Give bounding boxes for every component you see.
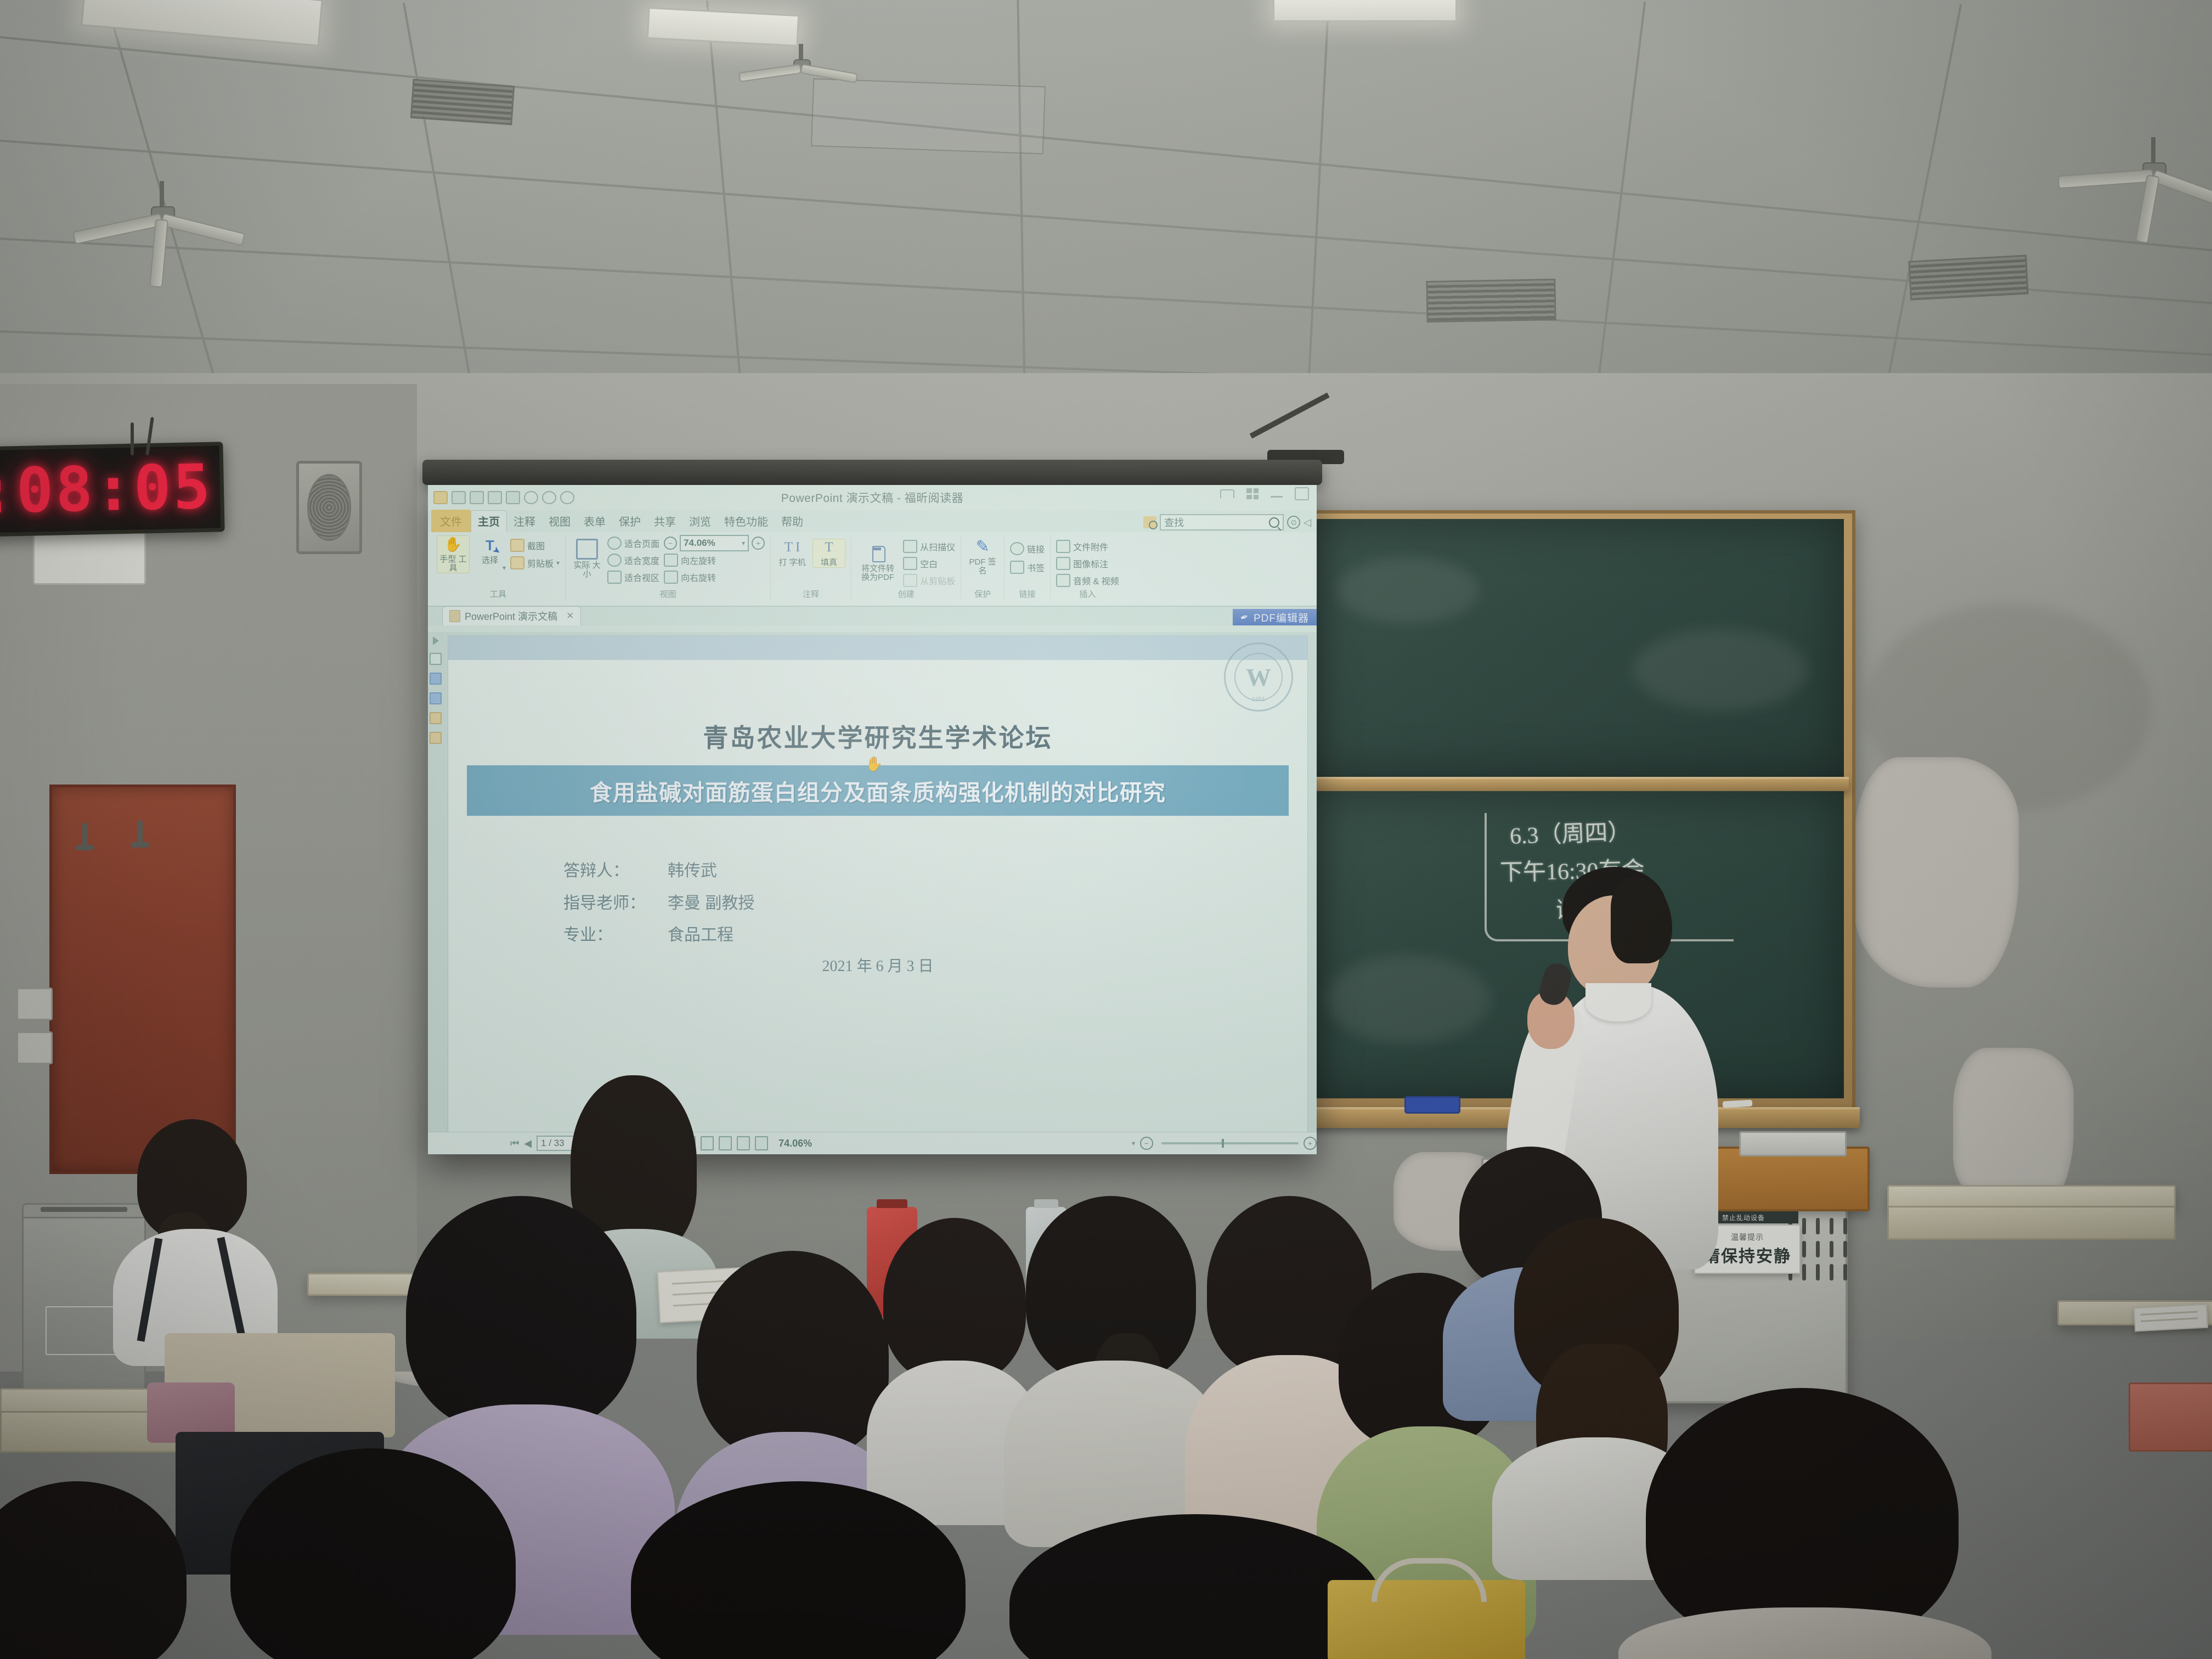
meta-value-presenter: 韩传武 [668, 862, 717, 880]
audience-hair [406, 1196, 636, 1432]
blank-page-icon [903, 557, 917, 570]
wall-speaker [296, 461, 362, 554]
bookmarks-panel-icon[interactable] [430, 673, 442, 685]
projector-screen: PowerPoint 演示文稿 - 福昕阅读器 文件 主页 注释 视图 表单 [428, 485, 1317, 1154]
ribbon-group-protect: PDF 签名 保护 [961, 535, 1005, 600]
group-label-comment: 注释 [771, 588, 851, 600]
from-scanner-label: 从扫描仪 [920, 540, 955, 553]
document-tab-label: PowerPoint 演示文稿 [465, 609, 557, 623]
reflow-view-icon[interactable] [755, 1136, 768, 1150]
typewriter-button[interactable]: T I 打 字机 [776, 539, 808, 567]
audience-member-foreground [0, 1481, 198, 1659]
coat-hook [137, 820, 143, 845]
page-viewport[interactable]: W 1951 青岛农业大学研究生学术论坛 食用盐碱对面筋蛋白组分及面条质构强化机… [443, 632, 1317, 1132]
navigation-pane[interactable] [428, 632, 443, 1132]
slide-meta-block: 答辩人：韩传武 指导老师：李曼 副教授 专业：食品工程 [563, 855, 754, 952]
clock-cable [131, 422, 134, 455]
search-input[interactable]: 查找 [1160, 514, 1284, 531]
attachment-icon [1056, 540, 1070, 553]
collapse-ribbon-icon[interactable]: ◁ [1304, 517, 1311, 528]
actual-size-button[interactable]: 实际 大小 [571, 539, 603, 579]
rotate-left-icon [664, 554, 678, 567]
mouse-cursor-hand-icon: ✋ [865, 755, 883, 772]
audience-shirt [1618, 1607, 1991, 1659]
audience-hair [697, 1251, 889, 1459]
audience-member-foreground [230, 1448, 538, 1659]
university-logo: W 1951 [1224, 642, 1293, 712]
wall-socket[interactable] [16, 1031, 53, 1064]
projector-screen-case [422, 460, 1322, 485]
window-titlebar: PowerPoint 演示文稿 - 福昕阅读器 [428, 485, 1317, 510]
meta-label-major: 专业： [563, 919, 668, 952]
clipboard-label: 剪贴板 [527, 556, 554, 569]
rotate-right-label: 向右旋转 [681, 571, 716, 584]
link-label: 链接 [1027, 542, 1045, 555]
rotate-left-label: 向左旋转 [681, 554, 716, 567]
snapshot-icon [510, 539, 524, 552]
ceiling-vent [1908, 255, 2028, 300]
zoom-level-input[interactable]: 74.06% ▾ [680, 535, 749, 551]
search-settings-icon[interactable]: ⊙ [1287, 516, 1300, 529]
slide-title-banner: 食用盐碱对面筋蛋白组分及面条质构强化机制的对比研究 [467, 765, 1289, 816]
window-title: PowerPoint 演示文稿 - 福昕阅读器 [428, 489, 1317, 506]
from-clipboard-label: 从剪贴板 [920, 574, 955, 587]
fit-visible-button[interactable]: 适合视区 [607, 569, 659, 585]
chevron-down-icon[interactable]: ▾ [1132, 1139, 1135, 1147]
fit-width-button[interactable]: 适合宽度 [607, 552, 659, 568]
tab-form[interactable]: 表单 [577, 511, 612, 532]
group-label-protect: 保护 [961, 588, 1004, 600]
bookmark-icon [1010, 561, 1024, 574]
coat-hook [82, 823, 88, 848]
ribbon-group-view: 实际 大小 适合页面 适合宽度 [566, 535, 771, 600]
fit-visible-label: 适合视区 [624, 571, 659, 584]
media-label: 音频 & 视频 [1073, 574, 1119, 587]
podium-equipment-panel [1739, 1131, 1847, 1156]
zoom-slider[interactable] [1161, 1142, 1299, 1144]
ceiling-tile-grid [0, 0, 2212, 417]
meta-label-advisor: 指导老师： [563, 888, 668, 920]
chevron-down-icon[interactable]: ▾ [742, 539, 745, 547]
group-label-insert: 插入 [1051, 588, 1125, 600]
scanner-icon [903, 540, 917, 553]
pdf-sign-icon [973, 539, 992, 556]
file-attachment-button[interactable]: 文件附件 [1056, 539, 1119, 554]
magnifier-icon[interactable] [1269, 517, 1279, 528]
layers-panel-icon[interactable] [430, 692, 442, 704]
classroom-photo-scene: 19:08:05 6.3（周四） 下午16:30有会 谢谢 ∧∧ [0, 0, 2212, 1659]
blackboard-upper [1304, 519, 1844, 777]
tab-help[interactable]: 帮助 [775, 511, 810, 532]
slide-date: 2021 年 6 月 3 日 [448, 954, 1307, 976]
audience-member-foreground [620, 1481, 982, 1659]
tab-browse[interactable]: 浏览 [682, 511, 718, 532]
status-zoom-in-icon[interactable]: + [1304, 1137, 1317, 1150]
ribbon-group-insert: 文件附件 图像标注 音频 & 视频 [1051, 535, 1125, 600]
restore-icon[interactable] [1295, 487, 1309, 500]
from-clipboard-button[interactable]: 从剪贴板 [903, 573, 955, 588]
file-to-pdf-button[interactable]: 将文件转 换为PDF [857, 545, 899, 582]
share-icon[interactable] [1220, 489, 1234, 498]
audience-hair [230, 1448, 516, 1659]
ribbon-tab-bar[interactable]: 文件 主页 注释 视图 表单 保护 共享 浏览 特色功能 帮助 查找 [428, 510, 1317, 532]
audience-member-foreground [1635, 1388, 1975, 1659]
side-desk-front [1887, 1206, 2176, 1240]
hand-icon [444, 536, 462, 554]
file-attachment-label: 文件附件 [1073, 540, 1108, 553]
chevron-down-icon[interactable]: ▾ [556, 559, 560, 567]
screen-surface: PowerPoint 演示文稿 - 福昕阅读器 文件 主页 注释 视图 表单 [428, 485, 1317, 1154]
tab-view[interactable]: 视图 [542, 511, 577, 532]
split-view-icon[interactable] [737, 1136, 750, 1150]
zoom-control[interactable]: − 74.06% ▾ + [664, 535, 765, 551]
ribbon-group-comment: T I 打 字机 T 填真 注释 [771, 535, 851, 600]
slide-page: W 1951 青岛农业大学研究生学术论坛 食用盐碱对面筋蛋白组分及面条质构强化机… [448, 635, 1308, 1132]
meta-label-presenter: 答辩人： [563, 855, 668, 888]
meta-row-advisor: 指导老师：李曼 副教授 [563, 888, 754, 920]
slide-title-text: 食用盐碱对面筋蛋白组分及面条质构强化机制的对比研究 [590, 774, 1166, 807]
group-label-create: 创建 [851, 588, 961, 600]
hand-tool-label: 手型 工具 [437, 555, 469, 573]
bookmark-label: 书签 [1027, 561, 1045, 574]
search-area[interactable]: 查找 ⊙ ◁ [1143, 514, 1311, 531]
fit-visible-icon [607, 571, 622, 584]
clipboard-icon [510, 556, 524, 569]
image-annot-button[interactable]: 图像标注 [1056, 556, 1119, 571]
group-label-link: 链接 [1005, 588, 1050, 600]
tab-comment[interactable]: 注释 [507, 511, 542, 532]
zoom-out-icon[interactable]: − [664, 537, 677, 550]
fit-page-button[interactable]: 适合页面 [607, 535, 659, 551]
actual-size-label: 实际 大小 [571, 561, 603, 579]
wall-peeling-paint [1854, 757, 2019, 988]
blackboard-eraser[interactable] [1404, 1096, 1460, 1114]
ceiling-fan [71, 181, 252, 252]
media-button[interactable]: 音频 & 视频 [1056, 573, 1119, 588]
digital-wall-clock: 19:08:05 [0, 442, 225, 537]
blackboard-divider-ledge [1300, 777, 1849, 791]
actual-size-icon [576, 539, 598, 560]
group-label-tools: 工具 [431, 588, 565, 600]
pdf-editor-badge[interactable]: ✒ PDF编辑器 [1233, 609, 1317, 625]
university-logo-year: 1951 [1226, 696, 1291, 703]
bookmark-button[interactable]: 书签 [1010, 560, 1045, 575]
slide-top-band [448, 636, 1307, 660]
ceiling-fan [735, 44, 867, 93]
tab-home[interactable]: 主页 [471, 510, 507, 532]
prev-page-icon[interactable]: ◀ [524, 1138, 532, 1149]
desk-papers [2134, 1304, 2208, 1332]
search-icon[interactable] [1143, 516, 1156, 528]
pen-icon: ✒ [1239, 610, 1251, 624]
document-work-area: W 1951 青岛农业大学研究生学术论坛 食用盐碱对面筋蛋白组分及面条质构强化机… [428, 632, 1317, 1132]
hand-tool-button[interactable]: 手型 工具 [437, 535, 470, 573]
select-text-icon [481, 537, 499, 555]
chevron-down-icon[interactable]: ▾ [503, 565, 506, 572]
tab-file[interactable]: 文件 [431, 510, 471, 532]
fill-sign-icon: T [820, 539, 838, 557]
select-tool-button[interactable]: 选择 ▾ [474, 537, 506, 572]
meta-row-major: 专业：食品工程 [563, 919, 754, 952]
audience-member [93, 1119, 291, 1350]
select-tool-label: 选择 [482, 556, 498, 565]
blank-page-button[interactable]: 空白 [903, 556, 955, 571]
slide-heading: 青岛农业大学研究生学术论坛 [448, 718, 1307, 754]
rotate-right-button[interactable]: 向右旋转 [664, 569, 765, 585]
fit-width-label: 适合宽度 [624, 554, 659, 567]
typewriter-label: 打 字机 [778, 558, 805, 567]
search-input-value: 查找 [1164, 515, 1184, 529]
image-annot-label: 图像标注 [1073, 557, 1108, 570]
ribbon-group-link: 链接 书签 链接 [1005, 535, 1051, 600]
meta-row-presenter: 答辩人：韩传武 [563, 855, 754, 888]
from-clipboard-icon [903, 574, 917, 587]
university-logo-mark: W [1234, 653, 1283, 701]
status-zoom-out-icon[interactable]: − [1140, 1137, 1153, 1150]
minimize-icon[interactable] [1271, 490, 1283, 498]
zoom-in-icon[interactable]: + [752, 537, 765, 550]
status-zoom-value: 74.06% [778, 1138, 812, 1149]
fill-sign-label: 填真 [821, 558, 837, 567]
rotate-left-button[interactable]: 向左旋转 [664, 552, 765, 568]
fill-sign-button[interactable]: T 填真 [812, 539, 845, 568]
audience-hair [883, 1218, 1026, 1383]
wall-socket[interactable] [16, 988, 53, 1020]
comments-panel-icon[interactable] [430, 732, 442, 744]
ceiling-vent [1426, 279, 1556, 323]
grid-icon[interactable] [1246, 488, 1259, 499]
document-tab-bar[interactable]: PowerPoint 演示文稿 ✕ ✒ PDF编辑器 [428, 607, 1317, 625]
pdf-file-icon [449, 610, 460, 622]
audience-hair [631, 1481, 966, 1659]
typewriter-icon: T I [783, 539, 802, 557]
zoom-slider-knob[interactable] [1222, 1139, 1224, 1148]
clipboard-button[interactable]: 剪贴板 ▾ [510, 555, 560, 571]
ceiling [0, 0, 2212, 417]
meta-value-advisor: 李曼 副教授 [668, 894, 754, 912]
window-controls[interactable] [1220, 487, 1309, 500]
image-annot-icon [1056, 557, 1070, 570]
attachments-panel-icon[interactable] [430, 712, 442, 724]
fit-page-icon [607, 537, 622, 550]
first-page-icon[interactable]: ⏮ [510, 1138, 519, 1149]
file-to-pdf-label: 将文件转 换为PDF [857, 565, 899, 582]
meta-value-major: 食品工程 [668, 926, 733, 944]
presenter-hair-back [1611, 877, 1672, 963]
link-button[interactable]: 链接 [1010, 541, 1045, 556]
snapshot-label: 截图 [527, 539, 545, 552]
audience-hair [0, 1481, 187, 1659]
ribbon-group-tools: 手型 工具 选择 ▾ 截图 [431, 535, 566, 600]
ceiling-fan [2063, 137, 2212, 214]
ceiling-vent [410, 79, 515, 126]
fit-width-icon [607, 554, 622, 567]
pdf-sign-button[interactable]: PDF 签名 [967, 539, 998, 575]
fit-page-label: 适合页面 [624, 537, 659, 550]
expand-pane-icon[interactable] [433, 636, 439, 645]
close-icon[interactable]: ✕ [566, 611, 574, 622]
ribbon-group-create: 将文件转 换为PDF 从扫描仪 空白 [851, 535, 961, 600]
audience-hair [1009, 1514, 1383, 1659]
rotate-right-icon [664, 571, 678, 584]
tab-features[interactable]: 特色功能 [718, 511, 775, 532]
document-tab[interactable]: PowerPoint 演示文稿 ✕ [442, 606, 581, 625]
pdf-editor-badge-label: PDF编辑器 [1254, 610, 1309, 625]
snapshot-button[interactable]: 截图 [510, 538, 560, 553]
pdf-sign-label: PDF 签名 [967, 558, 998, 575]
tab-protect[interactable]: 保护 [612, 511, 647, 532]
ribbon[interactable]: 手型 工具 选择 ▾ 截图 [428, 532, 1317, 607]
media-icon [1056, 574, 1070, 587]
page-thumbnails-icon[interactable] [430, 653, 442, 665]
file-to-pdf-icon [868, 545, 887, 563]
link-icon [1010, 542, 1024, 555]
foxit-reader-window: PowerPoint 演示文稿 - 福昕阅读器 文件 主页 注释 视图 表单 [428, 485, 1317, 1154]
group-label-view: 视图 [566, 588, 770, 600]
zoom-level-value: 74.06% [684, 538, 715, 549]
blank-page-label: 空白 [920, 557, 938, 570]
tab-share[interactable]: 共享 [647, 511, 682, 532]
presenter-collar [1585, 983, 1651, 1022]
from-scanner-button[interactable]: 从扫描仪 [903, 539, 955, 554]
clock-digits: 19:08:05 [0, 452, 213, 529]
chalk-note-line-1: 6.3（周四） [1509, 815, 1632, 854]
ceiling-light [1273, 0, 1457, 22]
red-bench [2129, 1383, 2212, 1452]
